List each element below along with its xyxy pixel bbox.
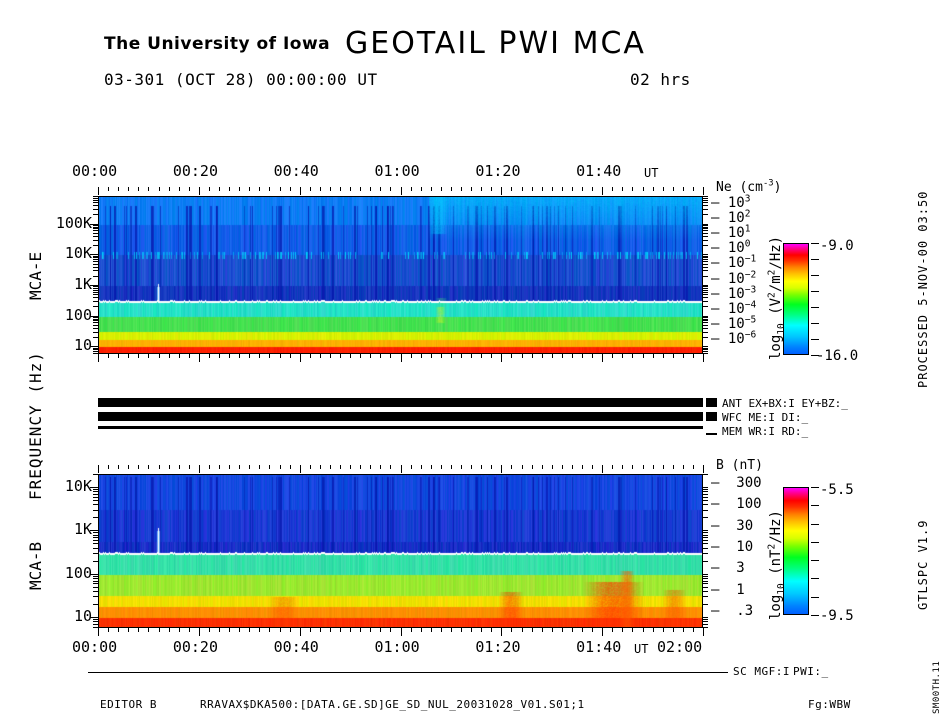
page-title: GEOTAIL PWI MCA: [345, 26, 646, 61]
y-minor-tick: [703, 617, 708, 618]
y-minor-tick: [703, 587, 708, 588]
x-tick-mark: [350, 187, 351, 191]
x-tick-mark: [360, 354, 361, 358]
y-tick-label-b-1: 1K: [30, 520, 92, 538]
y-minor-tick: [93, 322, 98, 323]
y-minor-tick: [93, 328, 98, 329]
y-minor-tick: [93, 294, 98, 295]
y-minor-tick: [703, 537, 708, 538]
x-tick-mark: [219, 187, 220, 191]
x-tick-mark: [431, 465, 432, 469]
y-minor-tick: [93, 497, 98, 498]
y-minor-tick: [703, 214, 708, 215]
x-tick-mark: [612, 628, 613, 632]
y-minor-tick: [703, 561, 708, 562]
y-minor-tick: [93, 621, 98, 622]
x-tick-mark: [532, 628, 533, 632]
colorbar-tick: [811, 578, 819, 579]
x-tick-mark: [683, 354, 684, 358]
x-tick-mark: [179, 465, 180, 469]
x-tick-mark: [340, 628, 341, 632]
y-minor-tick: [93, 548, 98, 549]
colorbar-e-log: log: [768, 335, 784, 360]
y-minor-tick: [703, 353, 708, 354]
x-tick-mark: [683, 187, 684, 191]
x-tick-mark: [643, 187, 644, 191]
x-tick-mark: [461, 465, 462, 469]
y-tick-label-e-0: 100K: [30, 214, 92, 232]
colorbar-tick: [811, 615, 819, 616]
y-tick-label-b-0: 10K: [30, 477, 92, 495]
y-minor-tick: [93, 227, 98, 228]
y-minor-tick: [703, 596, 708, 597]
x-tick-mark: [542, 465, 543, 469]
x-tick-mark: [239, 187, 240, 191]
y-minor-tick: [703, 627, 708, 628]
x-tick-mark: [350, 628, 351, 632]
x-tick-mark: [602, 187, 603, 195]
code-label: SM00TH.11: [932, 661, 942, 714]
colorbar-tick: [811, 339, 819, 340]
x-tick-mark: [431, 187, 432, 191]
y-minor-tick: [93, 576, 98, 577]
x-tick-mark: [491, 465, 492, 469]
x-tick-mark: [249, 354, 250, 358]
x-tick-mark: [370, 628, 371, 632]
y-minor-tick: [93, 624, 98, 625]
y-minor-tick: [93, 233, 98, 234]
y-minor-tick: [93, 292, 98, 293]
x-tick-mark: [98, 354, 99, 362]
x-tick-mark: [269, 187, 270, 191]
x-tick-mark: [229, 628, 230, 632]
x-tick-mark: [501, 187, 502, 195]
colorbar-b-sub: 10: [776, 583, 787, 594]
x-tick-mark: [501, 628, 502, 636]
y-minor-tick: [93, 353, 98, 354]
x-tick-top-5: 01:40: [576, 162, 621, 180]
x-tick-bottom-4: 01:20: [475, 638, 520, 656]
x-tick-top-4: 01:20: [475, 162, 520, 180]
x-tick-mark: [209, 354, 210, 358]
x-tick-mark: [522, 628, 523, 632]
x-tick-mark: [643, 465, 644, 469]
y-minor-tick: [93, 474, 98, 475]
x-tick-mark: [562, 465, 563, 469]
x-tick-mark: [179, 628, 180, 632]
x-tick-mark: [471, 187, 472, 191]
status-swatch-mem: [706, 433, 717, 435]
x-tick-mark: [693, 187, 694, 191]
y-minor-tick: [703, 517, 708, 518]
x-tick-mark: [643, 628, 644, 632]
x-tick-mark: [683, 465, 684, 469]
colorbar-e-sub: 10: [776, 323, 787, 334]
x-tick-mark: [703, 354, 704, 362]
status-swatch-wfc: [706, 412, 717, 421]
x-tick-mark: [411, 628, 412, 632]
x-tick-mark: [128, 187, 129, 191]
x-tick-mark: [542, 354, 543, 358]
x-tick-mark: [259, 187, 260, 191]
y-minor-tick: [93, 320, 98, 321]
colorbar-tick: [811, 597, 819, 598]
x-tick-mark: [451, 187, 452, 191]
x-tick-mark: [511, 187, 512, 191]
y-minor-tick: [93, 259, 98, 260]
x-tick-mark: [360, 465, 361, 469]
y-minor-tick: [703, 236, 708, 237]
x-tick-mark: [622, 465, 623, 469]
y-minor-tick: [703, 583, 708, 584]
status-bar-wfc: [98, 412, 703, 421]
x-tick-mark: [138, 465, 139, 469]
x-tick-mark: [693, 465, 694, 469]
y-minor-tick: [93, 489, 98, 490]
x-tick-mark: [632, 465, 633, 469]
x-tick-mark: [491, 628, 492, 632]
y-minor-tick: [703, 256, 708, 257]
status-swatch-ant: [706, 398, 717, 407]
y-minor-tick: [703, 621, 708, 622]
x-tick-mark: [653, 465, 654, 469]
y-minor-tick: [703, 259, 708, 260]
colorbar-tick: [811, 291, 819, 292]
x-tick-mark: [189, 628, 190, 632]
y-minor-tick: [703, 348, 708, 349]
x-tick-mark: [390, 628, 391, 632]
x-tick-mark: [330, 354, 331, 358]
y-minor-tick: [93, 619, 98, 620]
y-minor-tick: [93, 574, 98, 575]
y-minor-tick: [93, 205, 98, 206]
pwi-label: PWI:_: [793, 665, 829, 678]
y-minor-tick: [93, 230, 98, 231]
y-minor-tick: [703, 349, 708, 350]
y-minor-tick: [93, 214, 98, 215]
x-tick-mark: [401, 187, 402, 195]
x-tick-mark: [592, 465, 593, 469]
x-tick-mark: [522, 465, 523, 469]
x-tick-mark: [118, 465, 119, 469]
y-minor-tick: [703, 576, 708, 577]
y-minor-tick: [703, 264, 708, 265]
x-tick-mark: [522, 354, 523, 358]
sc-mgf-label: SC MGF:I: [733, 665, 790, 678]
y-minor-tick: [703, 292, 708, 293]
x-axis-bottom-unit: UT: [634, 642, 648, 656]
b-axis-title: B (nT): [716, 458, 763, 473]
x-tick-mark: [148, 187, 149, 191]
colorbar-b-log: log: [768, 595, 784, 620]
x-tick-mark: [320, 465, 321, 469]
x-tick-mark: [330, 628, 331, 632]
x-tick-mark: [401, 628, 402, 636]
y-minor-tick: [703, 290, 708, 291]
x-tick-mark: [461, 628, 462, 632]
x-tick-mark: [501, 465, 502, 473]
x-tick-mark: [572, 628, 573, 632]
b-tick-label-3: – 10: [711, 539, 765, 555]
x-tick-mark: [330, 465, 331, 469]
x-tick-mark: [582, 465, 583, 469]
x-tick-mark: [159, 465, 160, 469]
x-tick-mark: [471, 354, 472, 358]
x-tick-mark: [663, 187, 664, 191]
y-minor-tick: [93, 198, 98, 199]
status-line-mem: MEM WR:I RD:_: [722, 425, 808, 438]
x-tick-mark: [370, 354, 371, 358]
x-tick-mark: [340, 187, 341, 191]
x-tick-mark: [703, 465, 704, 473]
x-tick-mark: [280, 187, 281, 191]
x-tick-mark: [199, 187, 200, 195]
x-tick-mark: [622, 187, 623, 191]
colorbar-b-min: -9.5: [820, 608, 854, 624]
x-tick-mark: [562, 628, 563, 632]
x-tick-mark: [229, 465, 230, 469]
x-tick-mark: [128, 465, 129, 469]
y-minor-tick: [93, 581, 98, 582]
y-minor-tick: [93, 604, 98, 605]
y-tick-label-e-1: 10K: [30, 244, 92, 262]
x-tick-top-2: 00:40: [274, 162, 319, 180]
x-tick-mark: [582, 187, 583, 191]
y-tick-label-b-3: 10: [30, 607, 92, 625]
y-minor-tick: [703, 500, 708, 501]
x-tick-mark: [148, 465, 149, 469]
y-minor-tick: [703, 530, 708, 531]
y-tick-label-e-3: 100: [30, 306, 92, 324]
x-tick-mark: [471, 465, 472, 469]
y-minor-tick: [703, 261, 708, 262]
x-tick-mark: [632, 354, 633, 358]
y-minor-tick: [93, 288, 98, 289]
x-tick-top-1: 00:20: [173, 162, 218, 180]
y-minor-tick: [703, 619, 708, 620]
y-minor-tick: [93, 200, 98, 201]
colorbar-tick: [811, 323, 819, 324]
colorbar-mca-b[interactable]: [783, 487, 809, 615]
x-tick-mark: [632, 628, 633, 632]
y-minor-tick: [93, 537, 98, 538]
x-tick-mark: [511, 628, 512, 632]
x-tick-mark: [592, 187, 593, 191]
x-tick-mark: [98, 628, 99, 636]
x-tick-mark: [673, 354, 674, 358]
x-tick-mark: [179, 187, 180, 191]
x-tick-mark: [300, 187, 301, 195]
y-minor-tick: [703, 337, 708, 338]
y-minor-tick: [703, 316, 708, 317]
x-tick-mark: [159, 187, 160, 191]
y-minor-tick: [93, 225, 98, 226]
x-tick-mark: [532, 465, 533, 469]
y-minor-tick: [703, 578, 708, 579]
x-tick-mark: [280, 354, 281, 358]
y-minor-tick: [703, 270, 708, 271]
x-tick-mark: [209, 187, 210, 191]
x-tick-mark: [663, 465, 664, 469]
x-tick-mark: [542, 628, 543, 632]
x-tick-mark: [481, 465, 482, 469]
y-minor-tick: [93, 270, 98, 271]
x-tick-mark: [572, 187, 573, 191]
y-minor-tick: [703, 351, 708, 352]
x-tick-mark: [169, 465, 170, 469]
y-minor-tick: [703, 553, 708, 554]
y-minor-tick: [703, 320, 708, 321]
y-minor-tick: [703, 288, 708, 289]
x-tick-mark: [653, 187, 654, 191]
y-minor-tick: [93, 517, 98, 518]
colorbar-tick: [811, 259, 819, 260]
footer-divider: [88, 672, 728, 673]
x-tick-mark: [128, 354, 129, 358]
y-minor-tick: [703, 504, 708, 505]
b-tick-label-6: – .3: [711, 603, 765, 619]
y-minor-tick: [93, 543, 98, 544]
x-tick-mark: [481, 187, 482, 191]
y-minor-tick: [703, 245, 708, 246]
ne-tick-label-9: – 10−6: [711, 331, 756, 347]
x-tick-mark: [320, 187, 321, 191]
y-minor-tick: [93, 510, 98, 511]
x-tick-mark: [199, 354, 200, 362]
x-tick-mark: [148, 628, 149, 632]
x-tick-mark: [159, 354, 160, 358]
x-tick-mark: [189, 465, 190, 469]
y-minor-tick: [703, 540, 708, 541]
y-minor-tick: [93, 261, 98, 262]
x-tick-mark: [380, 465, 381, 469]
x-tick-mark: [461, 354, 462, 358]
x-tick-mark: [280, 628, 281, 632]
x-tick-mark: [380, 354, 381, 358]
y-minor-tick: [93, 297, 98, 298]
y-minor-tick: [703, 254, 708, 255]
y-minor-tick: [93, 494, 98, 495]
x-tick-mark: [380, 628, 381, 632]
y-minor-tick: [703, 574, 708, 575]
x-tick-mark: [632, 187, 633, 191]
y-minor-tick: [703, 497, 708, 498]
x-tick-mark: [259, 628, 260, 632]
x-tick-mark: [552, 628, 553, 632]
x-tick-mark: [643, 354, 644, 358]
y-minor-tick: [93, 228, 98, 229]
colorbar-tick: [811, 487, 819, 488]
x-tick-mark: [421, 354, 422, 358]
x-tick-mark: [562, 187, 563, 191]
x-tick-mark: [481, 628, 482, 632]
y-minor-tick: [93, 540, 98, 541]
editor-label: EDITOR B: [100, 698, 157, 711]
colorbar-mca-e[interactable]: [783, 243, 809, 355]
y-minor-tick: [93, 561, 98, 562]
y-minor-tick: [703, 328, 708, 329]
y-minor-tick: [703, 301, 708, 302]
y-minor-tick: [703, 319, 708, 320]
spectrogram-panel-mca-e[interactable]: [98, 196, 703, 354]
x-tick-mark: [189, 354, 190, 358]
y-minor-tick: [703, 198, 708, 199]
x-tick-mark: [138, 354, 139, 358]
x-tick-mark: [421, 187, 422, 191]
x-tick-mark: [612, 354, 613, 358]
x-tick-mark: [209, 465, 210, 469]
b-tick-label-1: – 100: [711, 496, 765, 512]
x-tick-mark: [441, 354, 442, 358]
colorbar-tick: [811, 355, 819, 356]
x-tick-mark: [622, 354, 623, 358]
x-tick-mark: [239, 628, 240, 632]
x-tick-mark: [118, 187, 119, 191]
x-tick-mark: [552, 187, 553, 191]
institution-label: The University of Iowa: [104, 34, 330, 54]
y-minor-tick: [93, 224, 98, 225]
y-minor-tick: [703, 285, 708, 286]
x-tick-mark: [411, 465, 412, 469]
x-tick-mark: [219, 465, 220, 469]
x-tick-mark: [269, 628, 270, 632]
spectrogram-panel-mca-b[interactable]: [98, 474, 703, 628]
x-tick-mark: [128, 628, 129, 632]
status-line-ant: ANT EX+BX:I EY+BZ:_: [722, 397, 848, 410]
y-minor-tick: [93, 317, 98, 318]
colorbar-e-min: -16.0: [816, 348, 858, 364]
x-tick-mark: [471, 628, 472, 632]
x-tick-mark: [360, 628, 361, 632]
y-minor-tick: [93, 196, 98, 197]
y-minor-tick: [703, 230, 708, 231]
colorbar-tick: [811, 243, 819, 244]
y-minor-tick: [703, 332, 708, 333]
fg-label: Fg:WBW: [808, 698, 851, 711]
x-tick-mark: [390, 354, 391, 358]
spectrogram-image-mca-e: [99, 197, 703, 354]
x-tick-mark: [693, 628, 694, 632]
y-minor-tick: [703, 200, 708, 201]
colorbar-tick: [811, 524, 819, 525]
x-tick-mark: [622, 628, 623, 632]
x-tick-mark: [411, 354, 412, 358]
x-tick-mark: [653, 354, 654, 358]
y-minor-tick: [703, 267, 708, 268]
x-tick-mark: [159, 628, 160, 632]
y-minor-tick: [93, 337, 98, 338]
ne-axis-title-close: ): [774, 180, 782, 195]
y-minor-tick: [93, 202, 98, 203]
x-tick-mark: [118, 628, 119, 632]
x-tick-mark: [511, 465, 512, 469]
x-tick-mark: [320, 354, 321, 358]
x-tick-mark: [108, 187, 109, 191]
y-minor-tick: [703, 205, 708, 206]
x-tick-mark: [431, 628, 432, 632]
x-tick-mark: [249, 465, 250, 469]
x-tick-mark: [491, 187, 492, 191]
x-tick-mark: [602, 354, 603, 362]
y-minor-tick: [703, 591, 708, 592]
x-tick-mark: [592, 628, 593, 632]
colorbar-tick: [811, 307, 819, 308]
y-minor-tick: [703, 317, 708, 318]
x-tick-mark: [491, 354, 492, 358]
y-tick-label-e-4: 10: [30, 336, 92, 354]
y-minor-tick: [703, 346, 708, 347]
x-tick-mark: [199, 465, 200, 473]
